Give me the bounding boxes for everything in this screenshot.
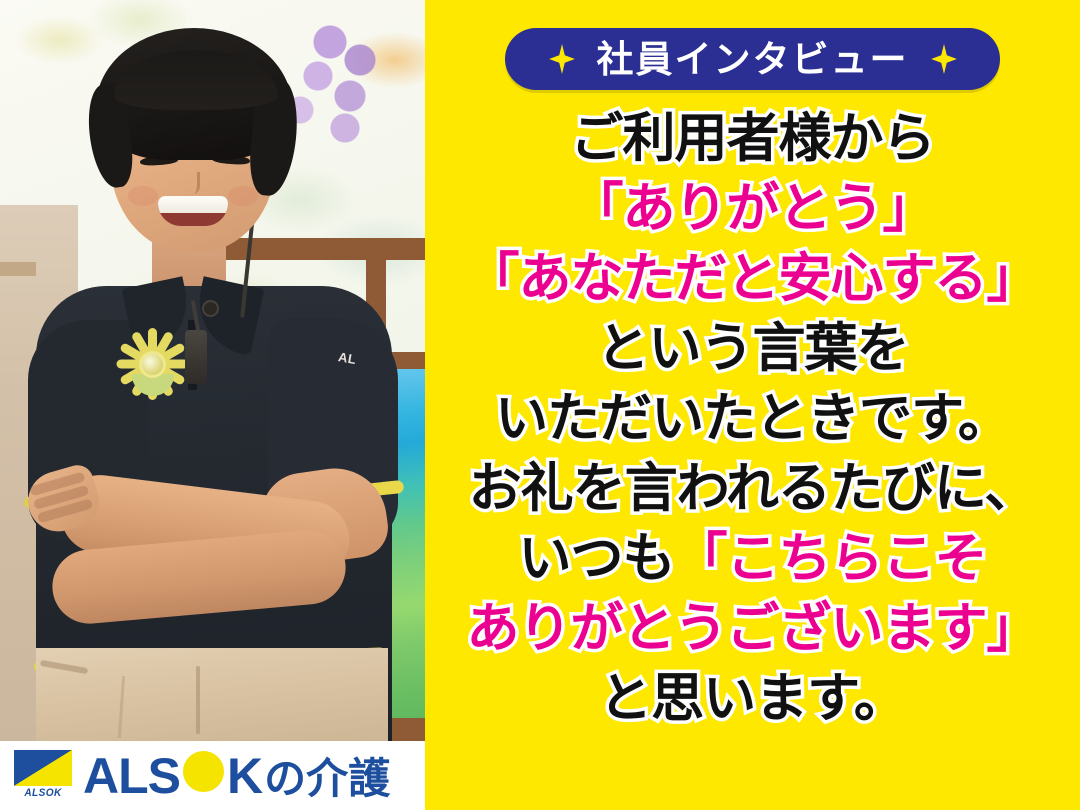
microphone-icon <box>202 300 219 317</box>
quote-line: と思います。 <box>599 664 906 734</box>
message-panel: 社員インタビュー ご利用者様から「ありがとう」「あなただと安心する」という言葉を… <box>425 0 1080 810</box>
alsok-wordmark: ALS K の介護 <box>83 746 390 805</box>
cheek-left <box>128 186 158 206</box>
cheek-right <box>228 186 258 206</box>
smiling-mouth <box>158 196 228 226</box>
wordmark-als: ALS <box>83 750 180 802</box>
quote-line: 「あなただと安心する」 <box>467 244 1039 314</box>
quote-segment: 「こちらこそ <box>675 528 987 589</box>
quote-line: ご利用者様から <box>571 104 935 174</box>
wordmark-o-icon <box>180 746 227 793</box>
poster-canvas: AL <box>0 0 1080 810</box>
quote-line: 「ありがとう」 <box>571 174 935 244</box>
quote-line: いつも「こちらこそ <box>519 524 987 594</box>
interview-badge: 社員インタビュー <box>505 28 1000 90</box>
quote-block: ご利用者様から「ありがとう」「あなただと安心する」という言葉をいただいたときです… <box>425 104 1080 734</box>
alsok-mark-icon: ALSOK <box>14 750 72 802</box>
khaki-trousers <box>36 648 388 741</box>
alsok-mark-label: ALSOK <box>18 787 68 800</box>
emblem-core <box>139 351 166 378</box>
teeth <box>158 196 228 213</box>
sparkle-icon <box>549 44 575 74</box>
staff-member-figure: AL <box>0 0 425 741</box>
quote-line: という言葉を <box>597 314 909 384</box>
alsok-logo-band: ALSOK ALS K の介護 <box>0 741 425 810</box>
alsok-mark-square <box>14 750 72 786</box>
staff-photo: AL <box>0 0 425 810</box>
quote-line: いただいたときです。 <box>495 384 1010 454</box>
wordmark-suffix: の介護 <box>264 753 390 805</box>
trouser-fly <box>196 666 200 734</box>
badge-clip <box>185 330 207 384</box>
quote-line: お礼を言われるたびに、 <box>469 454 1037 524</box>
wordmark-k: K <box>227 750 262 802</box>
quote-segment: いつも <box>519 528 675 589</box>
quote-line: ありがとうございます」 <box>467 594 1039 664</box>
nose <box>184 172 200 194</box>
sparkle-icon <box>931 44 957 74</box>
sunburst-emblem-icon <box>114 326 190 402</box>
interview-badge-title: 社員インタビュー <box>597 41 909 78</box>
